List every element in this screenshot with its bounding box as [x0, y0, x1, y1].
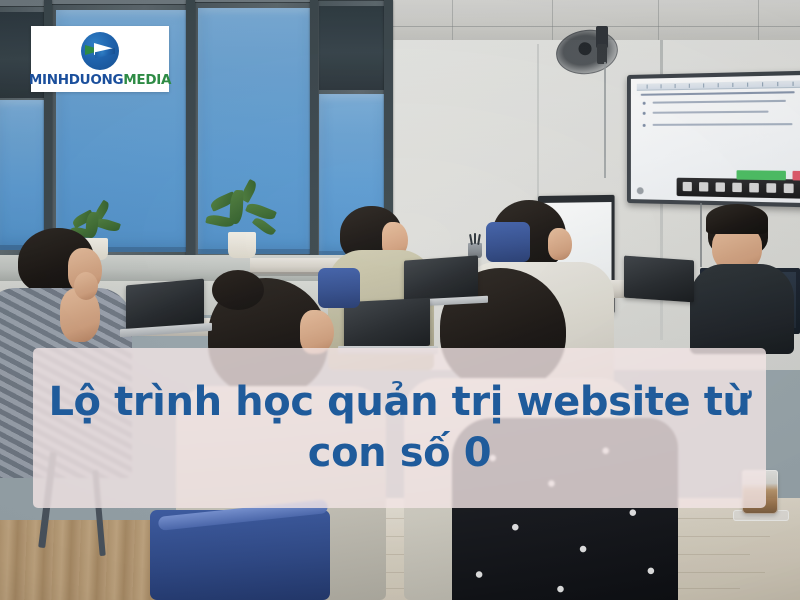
window-mullion-2	[186, 0, 195, 262]
chair-back-center	[318, 268, 360, 308]
logo-wordmark: MINHDUONGMEDIA	[29, 74, 171, 88]
screenshot-canvas: MINHDUONGMEDIA Lộ trình học quản trị web…	[0, 0, 800, 600]
circle-swoosh-icon	[81, 32, 119, 70]
chair-mid	[486, 222, 530, 262]
page-title: Lộ trình học quản trị website từ con số …	[33, 377, 766, 479]
minhduong-media-logo: MINHDUONGMEDIA	[31, 26, 169, 92]
logo-word-secondary: MEDIA	[123, 72, 171, 88]
window-blind-4-top	[319, 6, 387, 90]
title-overlay-band: Lộ trình học quản trị website từ con số …	[33, 348, 766, 508]
screen-cable	[700, 203, 702, 267]
window-mullion-3	[310, 0, 318, 262]
projector-screen	[627, 71, 800, 208]
projector-screen-content	[631, 75, 800, 203]
logo-word-primary: MINHDUONG	[29, 72, 123, 88]
window-blind-1	[0, 100, 50, 250]
